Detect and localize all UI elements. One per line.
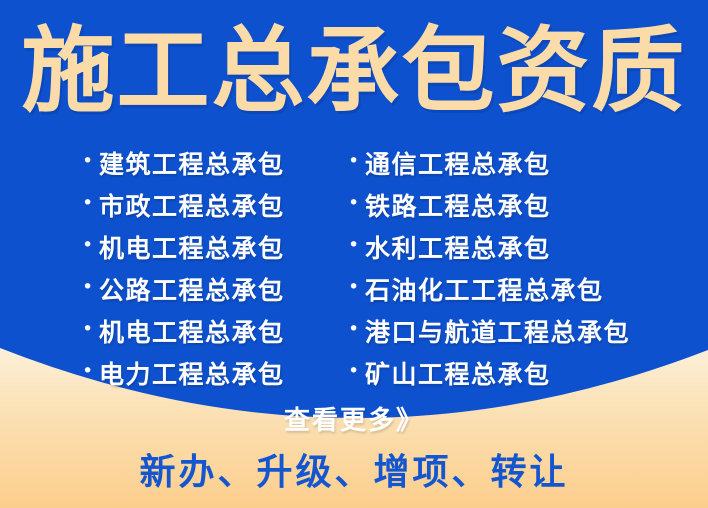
list-item[interactable]: • 水利工程总承包 [348,226,698,268]
bullet-icon: • [82,320,99,339]
bullet-icon: • [348,362,365,381]
list-item-label: 港口与航道工程总承包 [365,313,630,349]
services-tagline: 新办、升级、增项、转让 [0,443,708,495]
bullet-icon: • [348,194,365,213]
bullet-icon: • [82,362,99,381]
bullet-icon: • [348,320,365,339]
bullet-icon: • [82,278,99,297]
list-item[interactable]: • 市政工程总承包 [82,184,342,226]
list-item[interactable]: • 港口与航道工程总承包 [348,310,698,352]
list-item-label: 通信工程总承包 [365,145,551,181]
bullet-icon: • [348,152,365,171]
list-item[interactable]: • 机电工程总承包 [82,226,342,268]
list-item[interactable]: • 机电工程总承包 [82,310,342,352]
list-item-label: 建筑工程总承包 [99,145,285,181]
list-item-label: 水利工程总承包 [365,229,551,265]
list-item[interactable]: • 矿山工程总承包 [348,352,698,394]
bullet-icon: • [82,194,99,213]
bullet-icon: • [82,236,99,255]
list-item-label: 机电工程总承包 [99,313,285,349]
list-item[interactable]: • 通信工程总承包 [348,142,698,184]
list-item-label: 矿山工程总承包 [365,355,551,391]
list-item-label: 铁路工程总承包 [365,187,551,223]
list-item-label: 机电工程总承包 [99,229,285,265]
qualification-list: • 建筑工程总承包 • 市政工程总承包 • 机电工程总承包 • 公路工程总承包 … [0,142,708,394]
list-item-label: 石油化工工程总承包 [365,271,604,307]
list-item[interactable]: • 电力工程总承包 [82,352,342,394]
list-item[interactable]: • 公路工程总承包 [82,268,342,310]
list-item[interactable]: • 铁路工程总承包 [348,184,698,226]
list-item[interactable]: • 石油化工工程总承包 [348,268,698,310]
list-item-label: 公路工程总承包 [99,271,285,307]
view-more-link[interactable]: 查看更多》 [0,400,708,437]
list-item[interactable]: • 建筑工程总承包 [82,142,342,184]
list-item-label: 市政工程总承包 [99,187,285,223]
promo-poster: 施工总承包资质 • 建筑工程总承包 • 市政工程总承包 • 机电工程总承包 • … [0,0,708,508]
page-title: 施工总承包资质 [0,16,708,126]
qualification-column-left: • 建筑工程总承包 • 市政工程总承包 • 机电工程总承包 • 公路工程总承包 … [82,142,342,394]
bullet-icon: • [348,278,365,297]
list-item-label: 电力工程总承包 [99,355,285,391]
qualification-column-right: • 通信工程总承包 • 铁路工程总承包 • 水利工程总承包 • 石油化工工程总承… [348,142,698,394]
bullet-icon: • [82,152,99,171]
bullet-icon: • [348,236,365,255]
